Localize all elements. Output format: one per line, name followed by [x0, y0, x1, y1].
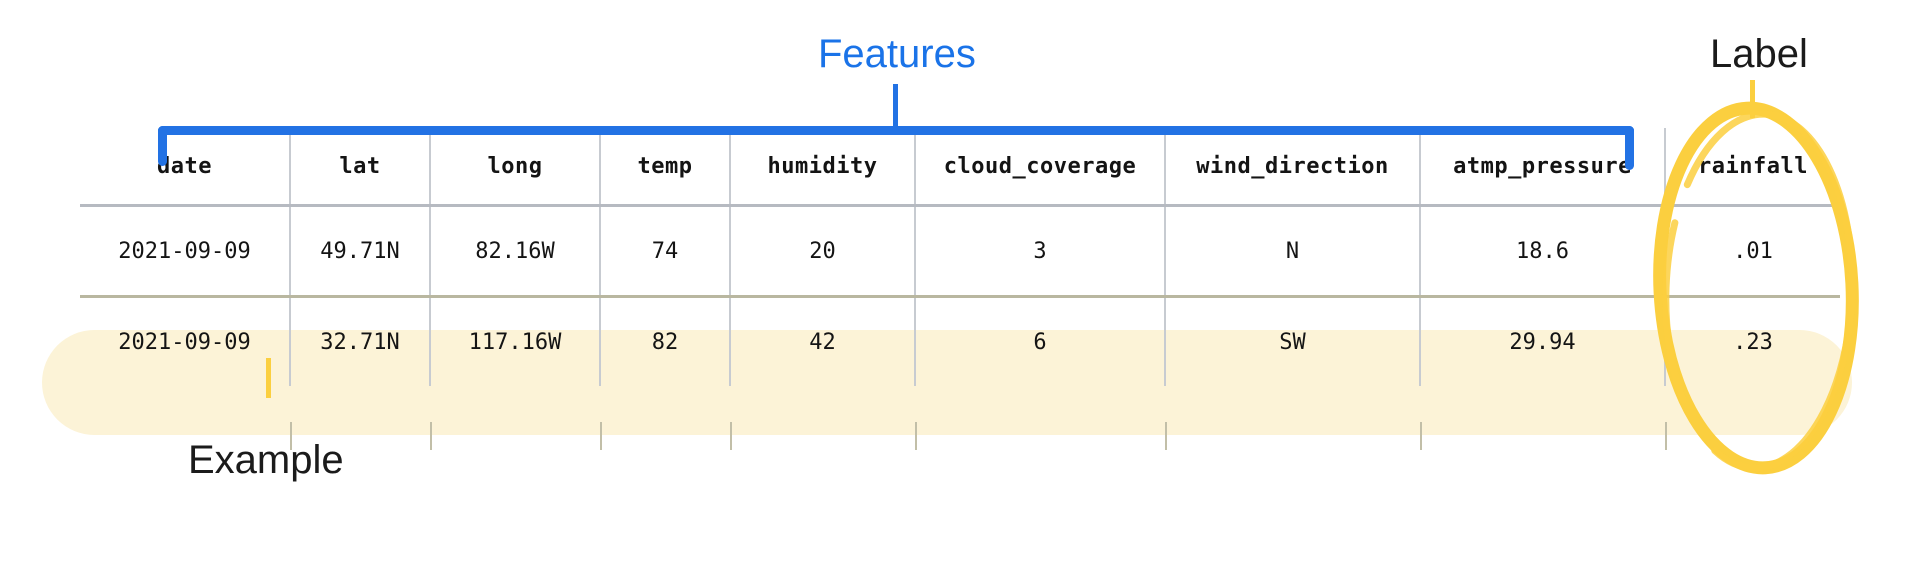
cell-temp: 74 — [600, 206, 730, 297]
features-leader-line-icon — [893, 84, 898, 128]
cell-lat: 32.71N — [290, 297, 430, 387]
divider-stub-icon — [1165, 422, 1167, 450]
cell-cloud-coverage: 3 — [915, 206, 1165, 297]
divider-stub-icon — [730, 422, 732, 450]
divider-stub-icon — [430, 422, 432, 450]
cell-wind-direction: N — [1165, 206, 1420, 297]
label-ellipse-circle-icon — [1638, 92, 1878, 482]
cell-cloud-coverage: 6 — [915, 297, 1165, 387]
example-leader-line-icon — [266, 358, 271, 398]
table-row: 2021-09-09 32.71N 117.16W 82 42 6 SW 29.… — [80, 297, 1840, 387]
cell-humidity: 42 — [730, 297, 915, 387]
divider-stub-icon — [1420, 422, 1422, 450]
divider-stub-icon — [915, 422, 917, 450]
cell-temp: 82 — [600, 297, 730, 387]
cell-date: 2021-09-09 — [80, 297, 290, 387]
cell-atmp-pressure: 29.94 — [1420, 297, 1665, 387]
features-annotation-label: Features — [818, 32, 976, 77]
cell-date: 2021-09-09 — [80, 206, 290, 297]
diagram-canvas: date lat long temp humidity cloud_covera… — [0, 0, 1920, 576]
example-annotation-label: Example — [188, 438, 344, 483]
cell-lat: 49.71N — [290, 206, 430, 297]
label-annotation-label: Label — [1710, 32, 1808, 77]
table-row: 2021-09-09 49.71N 82.16W 74 20 3 N 18.6 … — [80, 206, 1840, 297]
divider-stub-icon — [600, 422, 602, 450]
cell-long: 117.16W — [430, 297, 600, 387]
cell-atmp-pressure: 18.6 — [1420, 206, 1665, 297]
column-divider-stubs — [80, 422, 1840, 450]
cell-wind-direction: SW — [1165, 297, 1420, 387]
bracket-left-tick-icon — [158, 126, 167, 166]
cell-humidity: 20 — [730, 206, 915, 297]
cell-long: 82.16W — [430, 206, 600, 297]
features-bracket-icon — [158, 126, 1634, 168]
bracket-right-tick-icon — [1625, 126, 1634, 170]
